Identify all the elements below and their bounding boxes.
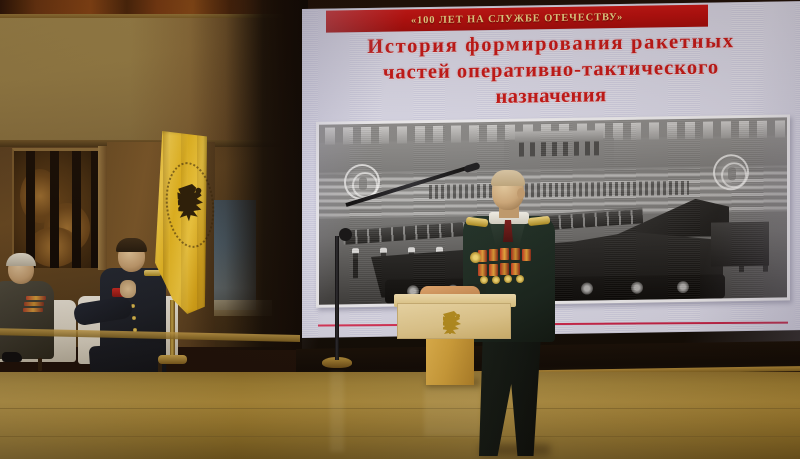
seated-officer-hair: [116, 238, 147, 252]
veteran-medal-row-2: [24, 302, 44, 306]
speaker-ribbon-9: [511, 263, 520, 275]
floor-reflection-sheen: [0, 372, 800, 459]
seated-veteran-body: [0, 281, 54, 359]
veteran-medal-row-1: [26, 296, 46, 300]
podium-column: [426, 337, 474, 385]
speaker-medal-4: [516, 275, 524, 283]
scene-root: «100 ЛЕТ НА СЛУЖБЕ ОТЕЧЕСТВУ» История фо…: [0, 0, 800, 459]
russian-coat-of-arms-icon: [443, 309, 465, 334]
flag-pole: [170, 300, 175, 360]
speaker-ribbon-2: [489, 249, 498, 261]
veteran-medal-row-3: [23, 308, 43, 312]
speaker-order-badge: [470, 252, 481, 263]
speaker-ear: [517, 188, 525, 199]
floor-reflection-mic: [330, 372, 344, 452]
microphone-boom-joint[interactable]: [339, 228, 352, 241]
chair-leg-1: [38, 358, 42, 371]
decorative-wall-panel: [12, 148, 100, 268]
speaker-ribbon-6: [478, 264, 487, 276]
speaker-medal-2: [492, 276, 500, 284]
seated-officer-hand: [120, 280, 136, 298]
officer-button-3: [132, 316, 136, 320]
speaker-ribbon-8: [500, 263, 509, 275]
officer-epaulette: [144, 270, 161, 276]
hall-dark-wall: [190, 0, 308, 350]
speaker-ribbon-5: [522, 249, 531, 261]
veteran-shoe: [2, 352, 22, 362]
microphone-stand-pole[interactable]: [335, 236, 339, 360]
speaker-hair: [491, 170, 525, 186]
speaker-ribbon-4: [511, 248, 520, 260]
panel-frame-right: [98, 146, 107, 270]
speaker-medal-1: [480, 276, 488, 284]
flag-stand-base: [158, 355, 187, 364]
speaker-ribbon-3: [500, 248, 509, 260]
floor-reflection-podium: [424, 386, 480, 436]
speaker-medal-3: [504, 275, 512, 283]
double-headed-eagle-icon: [177, 179, 209, 227]
speaker-ribbon-7: [489, 264, 498, 276]
